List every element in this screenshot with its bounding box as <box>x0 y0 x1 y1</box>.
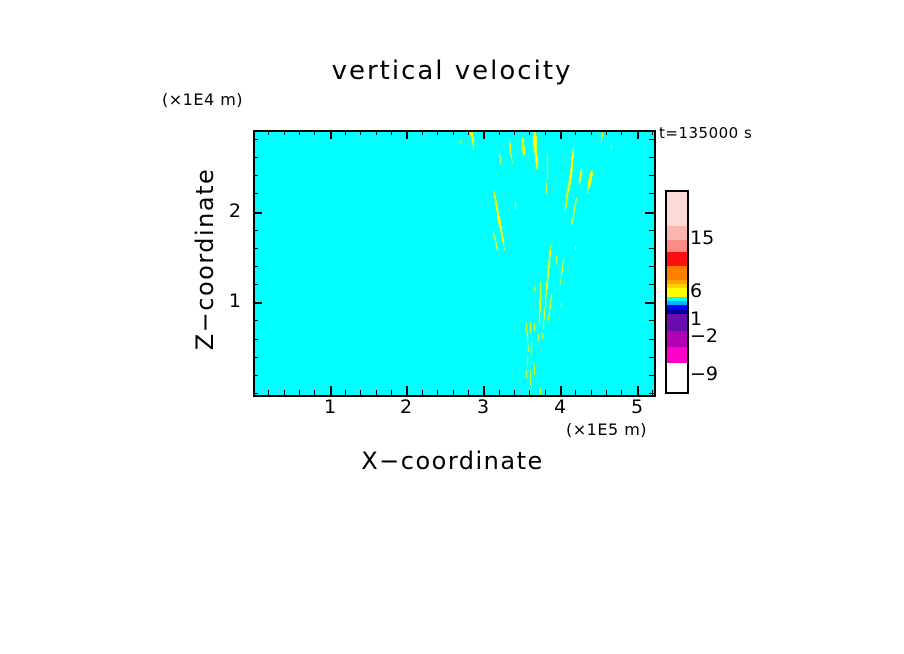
y-minor-tick-right <box>649 248 654 249</box>
x-minor-tick-top <box>606 130 607 135</box>
x-minor-tick <box>514 390 515 395</box>
x-minor-tick-top <box>376 130 377 135</box>
y-major-tick <box>253 302 262 304</box>
x-minor-tick-top <box>499 130 500 135</box>
y-major-tick-right <box>645 302 654 304</box>
x-tick-label: 4 <box>545 396 575 418</box>
x-minor-tick-top <box>268 130 269 135</box>
y-major-tick-right <box>645 212 654 214</box>
x-minor-tick-top <box>545 130 546 135</box>
x-minor-tick <box>575 390 576 395</box>
contour-field-canvas <box>255 132 654 395</box>
x-minor-tick-top <box>422 130 423 135</box>
y-minor-tick-right <box>649 157 654 158</box>
y-minor-tick <box>253 266 258 267</box>
x-axis-title: X−coordinate <box>253 447 652 475</box>
y-minor-tick-right <box>649 357 654 358</box>
x-minor-tick-top <box>253 130 254 135</box>
x-minor-tick-top <box>652 130 653 135</box>
x-major-tick-top <box>637 130 639 139</box>
x-minor-tick-top <box>621 130 622 135</box>
y-minor-tick-right <box>649 193 654 194</box>
x-minor-tick <box>268 390 269 395</box>
x-minor-tick <box>422 390 423 395</box>
x-major-tick <box>483 386 485 395</box>
y-minor-tick <box>253 193 258 194</box>
x-minor-tick <box>453 390 454 395</box>
x-major-tick <box>330 386 332 395</box>
colorbar-tick-label: 15 <box>690 227 714 249</box>
x-minor-tick-top <box>529 130 530 135</box>
y-tick-label: 1 <box>215 290 241 312</box>
x-minor-tick-top <box>284 130 285 135</box>
y-major-tick <box>253 212 262 214</box>
x-minor-tick <box>314 390 315 395</box>
x-minor-tick-top <box>299 130 300 135</box>
x-minor-tick-top <box>453 130 454 135</box>
y-minor-tick <box>253 230 258 231</box>
x-tick-label: 5 <box>622 396 652 418</box>
x-minor-tick-top <box>437 130 438 135</box>
y-axis-title: Z−coordinate <box>191 49 219 469</box>
y-tick-label: 2 <box>215 200 241 222</box>
x-minor-tick <box>499 390 500 395</box>
colorbar-band <box>667 252 687 267</box>
y-minor-tick <box>253 284 258 285</box>
x-minor-tick <box>299 390 300 395</box>
colorbar-band <box>667 226 687 241</box>
x-minor-tick <box>345 390 346 395</box>
x-minor-tick-top <box>591 130 592 135</box>
x-minor-tick-top <box>514 130 515 135</box>
x-minor-tick <box>545 390 546 395</box>
y-minor-tick-right <box>649 375 654 376</box>
y-minor-tick <box>253 248 258 249</box>
colorbar-tick-label: −2 <box>690 325 718 347</box>
x-minor-tick-top <box>575 130 576 135</box>
time-annotation: t=135000 s <box>659 124 752 142</box>
x-minor-tick <box>360 390 361 395</box>
page-title: vertical velocity <box>0 56 904 86</box>
y-minor-tick <box>253 139 258 140</box>
y-minor-tick <box>253 375 258 376</box>
x-minor-tick-top <box>468 130 469 135</box>
colorbar-band <box>667 192 687 227</box>
y-minor-tick-right <box>649 284 654 285</box>
y-minor-tick-right <box>649 393 654 394</box>
plot-area <box>253 130 656 397</box>
y-minor-tick-right <box>649 320 654 321</box>
colorbar-band <box>667 314 687 332</box>
x-minor-tick-top <box>345 130 346 135</box>
x-minor-tick <box>591 390 592 395</box>
x-minor-tick <box>621 390 622 395</box>
x-minor-tick <box>284 390 285 395</box>
x-minor-tick <box>391 390 392 395</box>
x-minor-tick <box>529 390 530 395</box>
x-minor-tick <box>606 390 607 395</box>
x-tick-label: 2 <box>391 396 421 418</box>
y-minor-tick <box>253 357 258 358</box>
x-major-tick <box>406 386 408 395</box>
x-major-tick <box>560 386 562 395</box>
x-axis-unit-label: (×1E5 m) <box>566 420 647 439</box>
x-minor-tick <box>376 390 377 395</box>
y-minor-tick <box>253 157 258 158</box>
x-minor-tick <box>437 390 438 395</box>
y-minor-tick <box>253 339 258 340</box>
y-minor-tick <box>253 320 258 321</box>
y-minor-tick-right <box>649 139 654 140</box>
y-minor-tick <box>253 393 258 394</box>
x-major-tick <box>637 386 639 395</box>
colorbar-tick-label: −9 <box>690 363 718 385</box>
x-major-tick-top <box>560 130 562 139</box>
x-major-tick-top <box>330 130 332 139</box>
colorbar-tick-label: 6 <box>690 280 702 302</box>
x-major-tick-top <box>406 130 408 139</box>
y-minor-tick-right <box>649 266 654 267</box>
y-minor-tick-right <box>649 339 654 340</box>
colorbar <box>665 190 689 394</box>
x-tick-label: 1 <box>315 396 345 418</box>
colorbar-band <box>667 331 687 348</box>
colorbar-band <box>667 347 687 363</box>
x-minor-tick-top <box>360 130 361 135</box>
y-minor-tick-right <box>649 175 654 176</box>
x-minor-tick-top <box>391 130 392 135</box>
x-minor-tick <box>468 390 469 395</box>
x-tick-label: 3 <box>468 396 498 418</box>
x-minor-tick-top <box>314 130 315 135</box>
y-minor-tick-right <box>649 230 654 231</box>
figure-root: vertical velocity (×1E4 m) t=135000 s (×… <box>0 0 904 654</box>
x-major-tick-top <box>483 130 485 139</box>
y-minor-tick <box>253 175 258 176</box>
